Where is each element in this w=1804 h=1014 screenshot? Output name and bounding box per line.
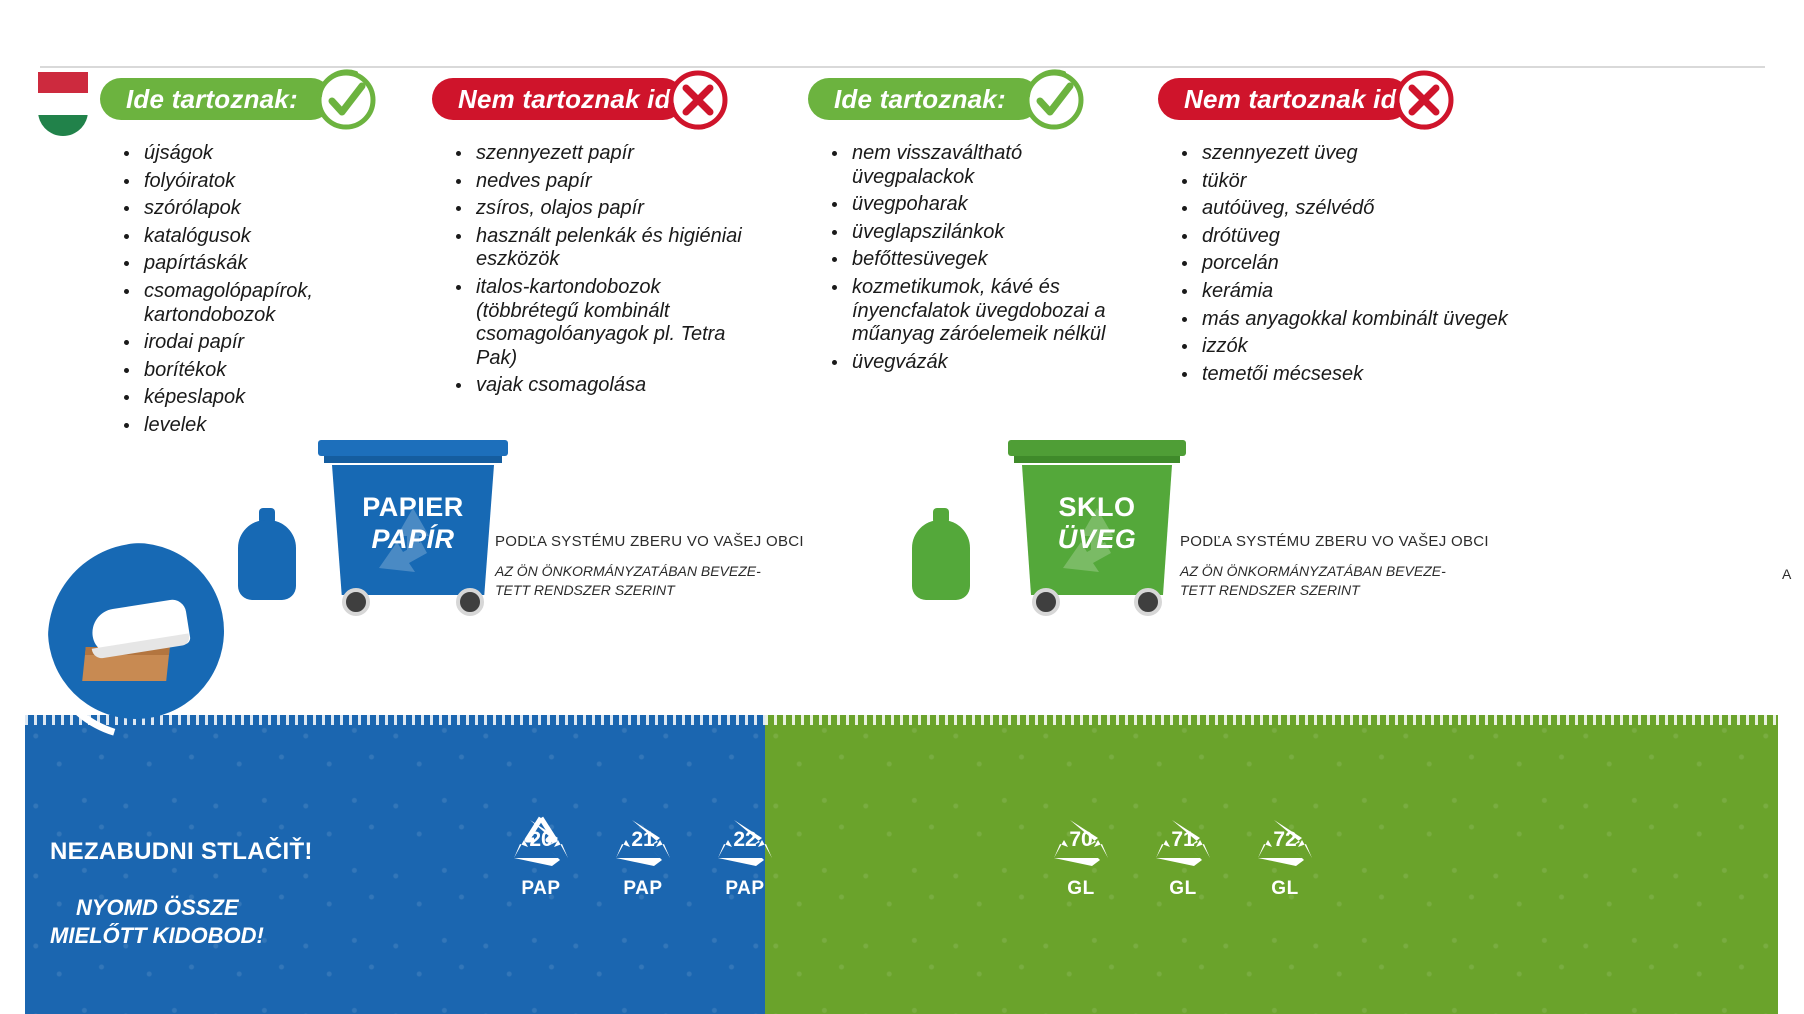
recycle-triangle-icon: 71 xyxy=(1142,812,1224,874)
paper-bin-caption: PODĽA SYSTÉMU ZBERU VO VAŠEJ OBCI AZ ÖN … xyxy=(495,533,785,600)
code-material: GL xyxy=(1142,878,1224,900)
caption-sk: PODĽA SYSTÉMU ZBERU VO VAŠEJ OBCI xyxy=(1180,533,1470,550)
code-material: PAP xyxy=(500,878,582,900)
caption-hu: AZ ÖN ÖNKORMÁNYZATÁBAN BEVEZE-TETT RENDS… xyxy=(495,562,785,600)
check-circle-icon xyxy=(1020,66,1088,134)
list-item: vajak csomagolása xyxy=(450,374,762,398)
slogan-hu-line2: MIELŐTT KIDOBOD! xyxy=(50,923,264,948)
heading-label: Ide tartoznak: xyxy=(834,84,1006,115)
item-list: szennyezett üveg tükör autóüveg, szélvéd… xyxy=(1176,142,1508,386)
column-glass-included: Ide tartoznak: nem visszaváltható üvegpa… xyxy=(808,78,1148,378)
recycle-code: 71 GL xyxy=(1142,812,1224,900)
code-number: 72 xyxy=(1244,828,1326,852)
glass-bin-caption: PODĽA SYSTÉMU ZBERU VO VAŠEJ OBCI AZ ÖN … xyxy=(1180,533,1470,600)
list-item: szórólapok xyxy=(118,197,430,221)
glass-waste-bag-icon xyxy=(912,508,970,600)
shoe-in-box-icon xyxy=(48,543,224,719)
edge-text-fragment: A xyxy=(1782,566,1791,582)
bin-wheel xyxy=(456,588,484,616)
list-item: zsíros, olajos papír xyxy=(450,197,762,221)
check-circle-icon xyxy=(312,66,380,134)
list-item: kozmetikumok, kávé és ínyencfalatok üveg… xyxy=(826,276,1148,347)
list-item: papírtáskák xyxy=(118,252,430,276)
list-item: irodai papír xyxy=(118,331,430,355)
cross-circle-icon xyxy=(664,66,732,134)
list-item: üvegpoharak xyxy=(826,193,1148,217)
recycle-triangle-icon: 72 xyxy=(1244,812,1326,874)
bin-label-hu: ÜVEG xyxy=(1008,524,1186,555)
list-item: befőttesüvegek xyxy=(826,248,1148,272)
caption-sk: PODĽA SYSTÉMU ZBERU VO VAŠEJ OBCI xyxy=(495,533,785,550)
list-item: képeslapok xyxy=(118,386,430,410)
list-item: borítékok xyxy=(118,359,430,383)
code-material: GL xyxy=(1040,878,1122,900)
flag-stripe-white xyxy=(38,93,88,114)
list-item: üvegvázák xyxy=(826,351,1148,375)
column-paper-excluded: Nem tartoznak ide: szennyezett papír ned… xyxy=(432,78,762,402)
list-item: izzók xyxy=(1176,335,1508,359)
list-item: szennyezett papír xyxy=(450,142,762,166)
recycle-triangle-icon: 20 xyxy=(500,812,582,874)
heading-label: Ide tartoznak: xyxy=(126,84,298,115)
slogan-sk: NEZABUDNI STLAČIŤ! xyxy=(50,838,313,866)
bin-wheel xyxy=(1134,588,1162,616)
list-item: kerámia xyxy=(1176,280,1508,304)
list-item: autóüveg, szélvédő xyxy=(1176,197,1508,221)
recycle-code: 72 GL xyxy=(1244,812,1326,900)
recycle-triangle-icon: 21 xyxy=(602,812,684,874)
list-item: drótüveg xyxy=(1176,225,1508,249)
flag-stripe-green xyxy=(38,115,88,136)
list-item: italos-kartondobozok (többrétegű kombiná… xyxy=(450,276,762,370)
code-number: 71 xyxy=(1142,828,1224,852)
heading-pill-include: Ide tartoznak: xyxy=(100,78,332,120)
glass-recycle-codes: 70 GL 71 GL 72 GL xyxy=(1040,812,1326,900)
bin-wheel xyxy=(1032,588,1060,616)
code-material: PAP xyxy=(704,878,786,900)
paper-bin-icon: PAPIER PAPÍR xyxy=(318,440,508,600)
heading-label: Nem tartoznak ide: xyxy=(458,84,694,115)
recycle-triangle-icon: 22 xyxy=(704,812,786,874)
recycle-code: 21 PAP xyxy=(602,812,684,900)
code-number: 20 xyxy=(500,828,582,852)
code-material: PAP xyxy=(602,878,684,900)
list-item: folyóiratok xyxy=(118,170,430,194)
list-item: szennyezett üveg xyxy=(1176,142,1508,166)
list-item: nedves papír xyxy=(450,170,762,194)
recycle-code: 22 PAP xyxy=(704,812,786,900)
compress-slogan: NEZABUDNI STLAČIŤ! NYOMD ÖSSZE MIELŐTT K… xyxy=(50,838,313,949)
bin-label-hu: PAPÍR xyxy=(318,524,508,555)
column-glass-excluded: Nem tartoznak ide: szennyezett üveg tükö… xyxy=(1158,78,1508,390)
list-item: csomagolópapírok, kartondobozok xyxy=(118,280,430,327)
heading-pill-exclude: Nem tartoznak ide: xyxy=(1158,78,1410,120)
flag-stripe-red xyxy=(38,72,88,93)
list-item: nem visszaváltható üvegpalackok xyxy=(826,142,1148,189)
hungarian-flag-icon xyxy=(38,72,88,136)
caption-hu: AZ ÖN ÖNKORMÁNYZATÁBAN BEVEZE-TETT RENDS… xyxy=(1180,562,1470,600)
cross-circle-icon xyxy=(1390,66,1458,134)
bin-label-sk: SKLO xyxy=(1008,492,1186,523)
list-item: levelek xyxy=(118,414,430,438)
item-list: szennyezett papír nedves papír zsíros, o… xyxy=(450,142,762,398)
header-divider xyxy=(40,66,1765,68)
list-item: temetői mécsesek xyxy=(1176,363,1508,387)
code-material: GL xyxy=(1244,878,1326,900)
heading-pill-include: Ide tartoznak: xyxy=(808,78,1040,120)
list-item: újságok xyxy=(118,142,430,166)
slogan-hu: NYOMD ÖSSZE MIELŐTT KIDOBOD! xyxy=(50,894,313,949)
slogan-hu-line1: NYOMD ÖSSZE xyxy=(76,894,313,922)
recycle-triangle-icon: 70 xyxy=(1040,812,1122,874)
list-item: más anyagokkal kombinált üvegek xyxy=(1176,308,1508,332)
list-item: használt pelenkák és higiéniai eszközök xyxy=(450,225,762,272)
code-number: 21 xyxy=(602,828,684,852)
paper-recycle-codes: 20 PAP 21 PAP 22 PAP xyxy=(500,812,786,900)
column-paper-included: Ide tartoznak: újságok folyóiratok szóró… xyxy=(100,78,430,442)
list-item: tükör xyxy=(1176,170,1508,194)
glass-bin-icon: SKLO ÜVEG xyxy=(1008,440,1186,600)
recycle-code: 20 PAP xyxy=(500,812,582,900)
list-item: porcelán xyxy=(1176,252,1508,276)
recycle-code: 70 GL xyxy=(1040,812,1122,900)
item-list: újságok folyóiratok szórólapok katalógus… xyxy=(118,142,430,438)
bin-wheel xyxy=(342,588,370,616)
item-list: nem visszaváltható üvegpalackok üvegpoha… xyxy=(826,142,1148,374)
list-item: üveglapszilánkok xyxy=(826,221,1148,245)
heading-label: Nem tartoznak ide: xyxy=(1184,84,1420,115)
bin-label-sk: PAPIER xyxy=(318,492,508,523)
list-item: katalógusok xyxy=(118,225,430,249)
heading-pill-exclude: Nem tartoznak ide: xyxy=(432,78,684,120)
paper-waste-bag-icon xyxy=(238,508,296,600)
code-number: 22 xyxy=(704,828,786,852)
code-number: 70 xyxy=(1040,828,1122,852)
